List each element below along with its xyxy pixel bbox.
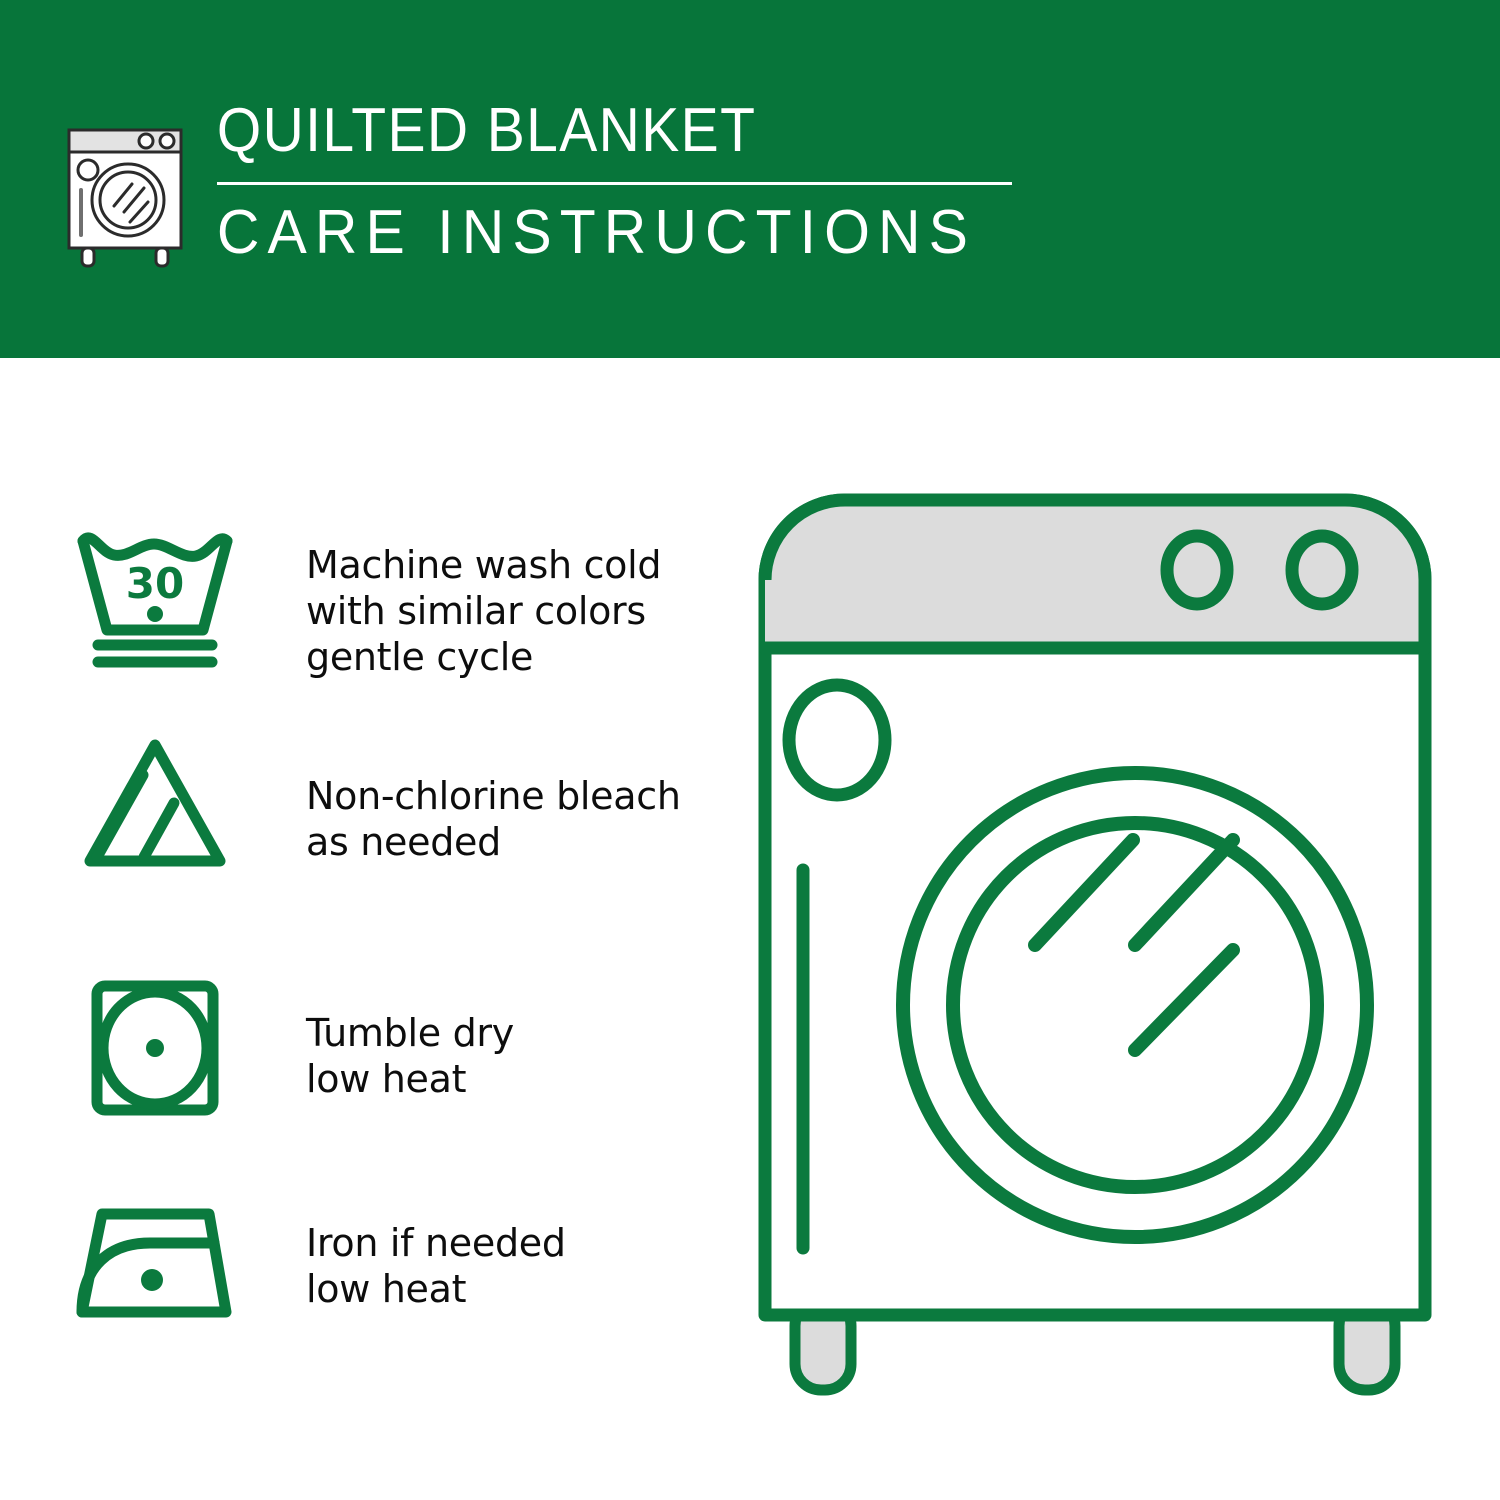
care-item-tumble-dry: Tumble dry low heat bbox=[70, 978, 514, 1118]
front-load-washing-machine-illustration bbox=[745, 480, 1445, 1420]
care-item-label: Non-chlorine bleach as needed bbox=[306, 773, 681, 865]
washing-machine-icon bbox=[60, 104, 195, 270]
care-item-label: Iron if needed low heat bbox=[306, 1220, 566, 1312]
care-item-iron: Iron if needed low heat bbox=[70, 1188, 566, 1333]
wash-tub-30-gentle-icon: 30 bbox=[70, 526, 240, 671]
non-chlorine-bleach-triangle-icon bbox=[70, 733, 240, 878]
care-item-label: Tumble dry low heat bbox=[306, 1010, 514, 1102]
tumble-dry-low-icon bbox=[70, 978, 240, 1118]
care-item-label: Machine wash cold with similar colors ge… bbox=[306, 542, 661, 680]
header-content: QUILTED BLANKET CARE INSTRUCTIONS bbox=[60, 96, 1016, 270]
wash-temperature-label: 30 bbox=[126, 559, 184, 608]
care-item-machine-wash: 30 Machine wash cold with similar colors… bbox=[70, 526, 661, 680]
title-divider bbox=[217, 182, 1012, 185]
page-title: QUILTED BLANKET bbox=[215, 96, 756, 166]
page-subtitle: CARE INSTRUCTIONS bbox=[215, 199, 976, 267]
care-item-bleach: Non-chlorine bleach as needed bbox=[70, 733, 681, 878]
header-titles: QUILTED BLANKET CARE INSTRUCTIONS bbox=[215, 96, 1016, 267]
header-band: QUILTED BLANKET CARE INSTRUCTIONS bbox=[0, 0, 1500, 358]
iron-low-heat-icon bbox=[70, 1188, 240, 1333]
care-instruction-list: 30 Machine wash cold with similar colors… bbox=[0, 358, 730, 1500]
